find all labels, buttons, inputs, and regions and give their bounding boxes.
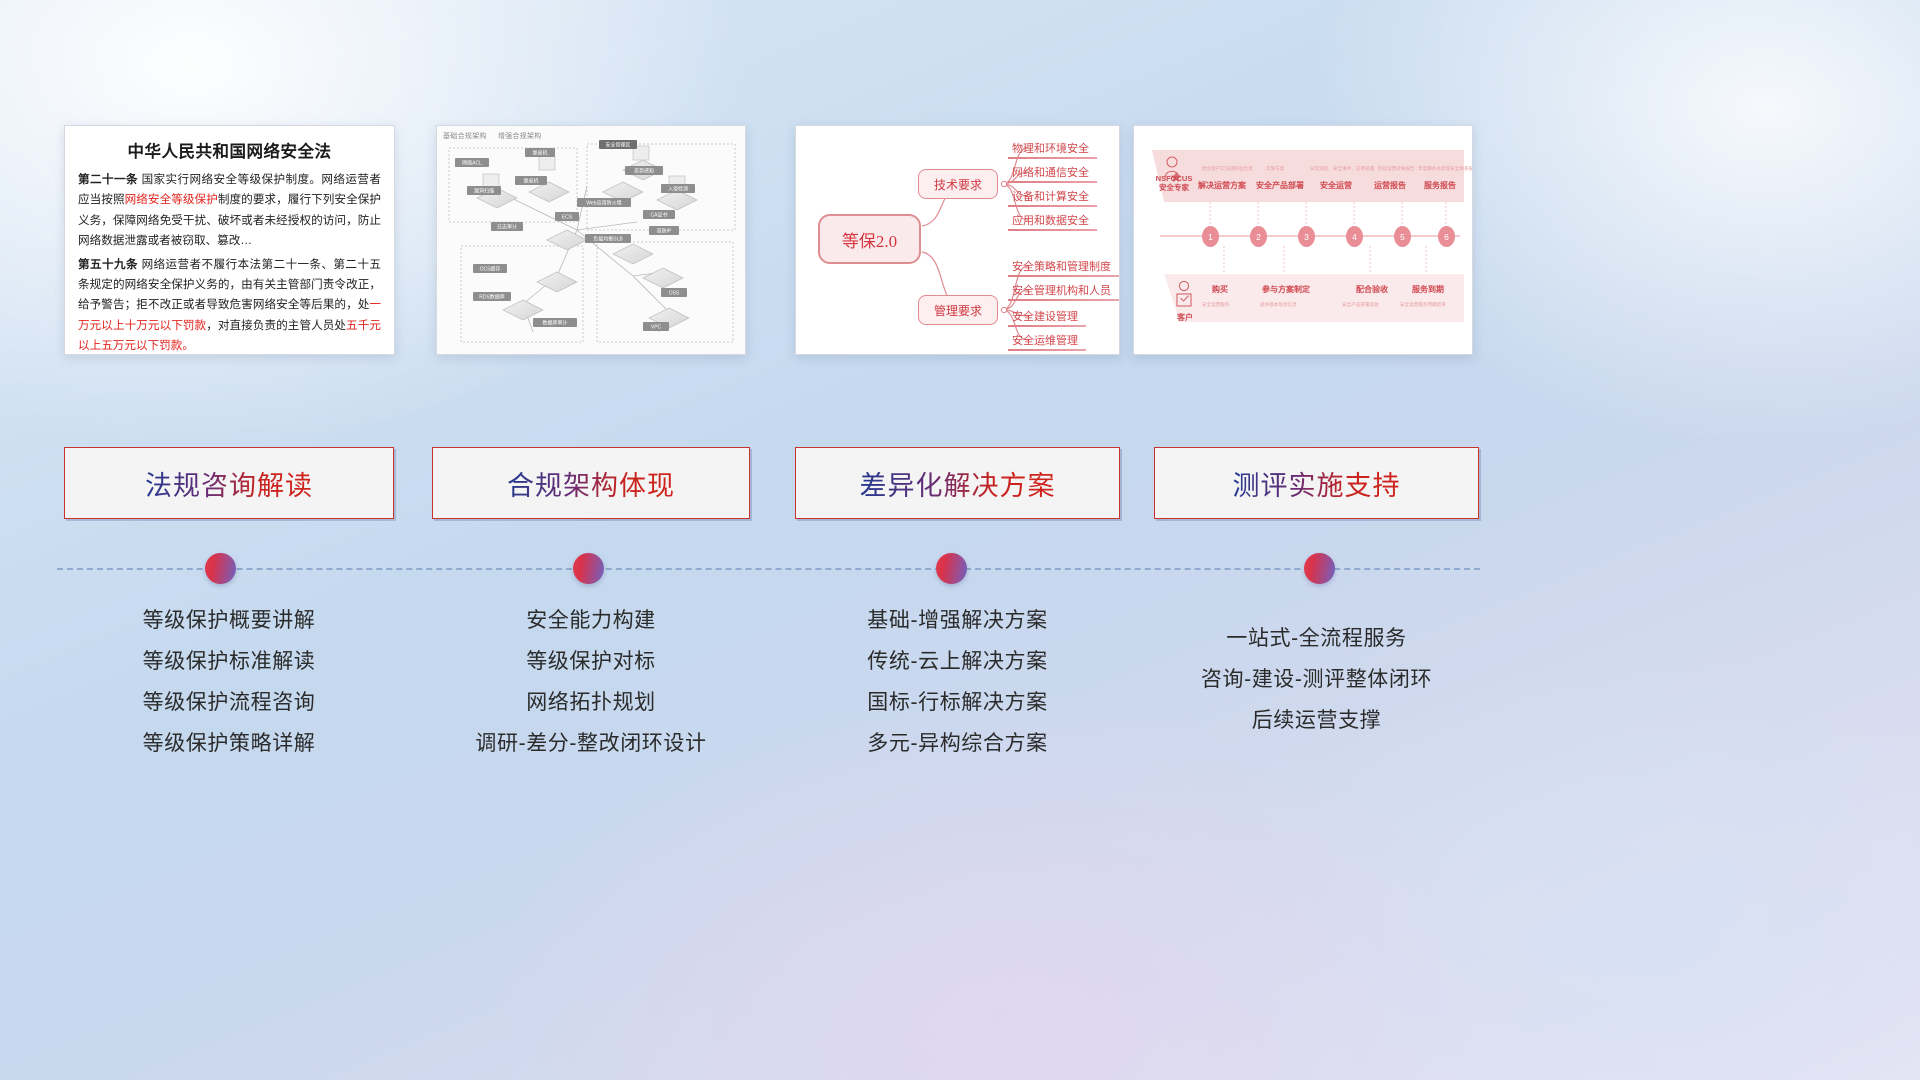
mindmap-leaf-tech-2[interactable]: 网络和通信安全 [1008,164,1093,183]
svg-text:CA证书: CA证书 [651,212,668,219]
timeline-marker-4[interactable] [1304,553,1335,584]
list-item: 等级保护概要讲解 [64,600,394,641]
mindmap-root-node[interactable]: 等保2.0 [818,214,921,264]
mindmap-leaf-tech-3[interactable]: 设备和计算安全 [1008,188,1093,207]
svg-text:数据库审计: 数据库审计 [542,320,567,327]
step-number-6[interactable]: 6 [1438,226,1455,247]
list-item: 一站式-全流程服务 [1154,618,1479,659]
pillar-headers-row: 法规咨询解读 合规架构体现 差异化解决方案 测评实施支持 [0,447,1920,519]
step-number-5[interactable]: 5 [1394,226,1411,247]
law-article-21: 第二十一条 国家实行网络安全等级保护制度。网络运营者应当按照网络安全等级保护制度… [78,170,381,252]
top-step-4-title: 运营报告 [1374,180,1406,191]
brand-subtitle: 安全专家 [1159,183,1189,192]
top-step-2-title: 安全产品部署 [1256,180,1304,191]
detail-column-1: 等级保护概要讲解 等级保护标准解读 等级保护流程咨询 等级保护策略详解 [64,600,394,764]
list-item: 国标-行标解决方案 [795,682,1120,723]
svg-text:OCS缓存: OCS缓存 [480,266,501,273]
mindmap-branch-technical[interactable]: 技术要求 [918,169,998,199]
top-step-5-desc: 年度服务总结等安全体系报告 [1418,166,1473,172]
law-text-block: 中华人民共和国网络安全法 第二十一条 国家实行网络安全等级保护制度。网络运营者应… [65,126,394,355]
list-item: 等级保护策略详解 [64,723,394,764]
reference-cards-row: 中华人民共和国网络安全法 第二十一条 国家实行网络安全等级保护制度。网络运营者应… [0,125,1920,360]
brand-label: NSFOCUS 安全专家 [1152,174,1196,193]
svg-text:OSS: OSS [669,291,680,297]
list-item: 安全能力构建 [432,600,750,641]
step-number-2[interactable]: 2 [1250,226,1267,247]
svg-text:网络ACL: 网络ACL [462,160,482,167]
timeline [0,540,1920,600]
bottom-step-3-desc: 安全产品部署验收 [1342,302,1379,308]
pillar-header-1-label: 法规咨询解读 [145,464,313,503]
top-step-1-desc: 结合客户实况调研后出具 [1202,166,1253,172]
svg-text:Web应用防火墙: Web应用防火墙 [586,200,621,207]
list-item: 网络拓扑规划 [432,682,750,723]
svg-text:RDS数据库: RDS数据库 [479,294,505,301]
top-step-3-title: 安全运营 [1320,180,1352,191]
process-diagram: NSFOCUS 安全专家 客户 结合客户实况调研后出具 解决运营方案 实施方案 … [1134,126,1472,354]
article-21-label: 第二十一条 [78,173,138,186]
list-item: 调研-差分-整改闭环设计 [432,723,750,764]
article-21-highlight: 网络安全等级保护 [125,193,218,206]
article-59-text-b: ，对直接负责的主管人员处 [206,319,346,332]
bottom-step-1-title: 购买 [1212,284,1228,295]
detail-column-3: 基础-增强解决方案 传统-云上解决方案 国标-行标解决方案 多元-异构综合方案 [795,600,1120,764]
timeline-marker-2[interactable] [573,553,604,584]
timeline-dashed-line [57,568,1480,570]
mindmap-diagram: 等保2.0 技术要求 管理要求 物理和环境安全 网络和通信安全 设备和计算安全 … [796,126,1119,354]
step-number-4[interactable]: 4 [1346,226,1363,247]
svg-text:日志审计: 日志审计 [497,224,517,231]
svg-text:漏洞扫描: 漏洞扫描 [474,188,494,195]
card-service-process[interactable]: NSFOCUS 安全专家 客户 结合客户实况调研后出具 解决运营方案 实施方案 … [1133,125,1473,355]
article-59-label: 第五十九条 [78,258,138,271]
mindmap-branch-management[interactable]: 管理要求 [918,295,998,325]
bottom-step-4-desc: 安全运营服务周期结束 [1400,302,1446,308]
timeline-marker-1[interactable] [205,553,236,584]
card-cloud-architecture[interactable]: 基础合规架构增强合规架构 [436,125,746,355]
pillar-header-3[interactable]: 差异化解决方案 [795,447,1120,519]
pillar-header-2[interactable]: 合规架构体现 [432,447,750,519]
top-step-2-desc: 实施方案 [1266,166,1284,172]
svg-text:安全管理区: 安全管理区 [605,142,630,149]
detail-column-2: 安全能力构建 等级保护对标 网络拓扑规划 调研-差分-整改闭环设计 [432,600,750,764]
mindmap-leaf-mgmt-3[interactable]: 安全建设管理 [1008,308,1082,327]
svg-text:负载均衡SLB: 负载均衡SLB [593,236,623,243]
step-number-1[interactable]: 1 [1202,226,1219,247]
card-cybersecurity-law[interactable]: 中华人民共和国网络安全法 第二十一条 国家实行网络安全等级保护制度。网络运营者应… [64,125,395,355]
detail-column-4: 一站式-全流程服务 咨询-建设-测评整体闭环 后续运营支撑 [1154,600,1479,741]
pillar-details-row: 等级保护概要讲解 等级保护标准解读 等级保护流程咨询 等级保护策略详解 安全能力… [0,600,1920,830]
mindmap-leaf-tech-4[interactable]: 应用和数据安全 [1008,212,1093,231]
pillar-header-1[interactable]: 法规咨询解读 [64,447,394,519]
card-mind-map[interactable]: 等保2.0 技术要求 管理要求 物理和环境安全 网络和通信安全 设备和计算安全 … [795,125,1120,355]
svg-text:堡垒机: 堡垒机 [523,178,538,185]
law-article-59: 第五十九条 网络运营者不履行本法第二十一条、第二十五条规定的网络安全保护义务的，… [78,255,381,355]
top-step-3-desc: 日常巡检、安全事件、应用处置 [1310,166,1374,172]
mindmap-leaf-tech-1[interactable]: 物理和环境安全 [1008,140,1093,159]
brand-name: NSFOCUS [1156,174,1193,183]
list-item: 多元-异构综合方案 [795,723,1120,764]
customer-label: 客户 [1170,312,1200,323]
svg-text:VPC: VPC [651,325,662,331]
mindmap-leaf-mgmt-1[interactable]: 安全策略和管理制度 [1008,258,1115,277]
pillar-header-2-label: 合规架构体现 [507,464,675,503]
svg-text:高防IP: 高防IP [657,228,672,235]
list-item: 咨询-建设-测评整体闭环 [1154,659,1479,700]
law-title: 中华人民共和国网络安全法 [78,138,381,162]
svg-text:堡垒机: 堡垒机 [532,150,547,157]
svg-text:态势感知: 态势感知 [634,168,654,175]
bottom-step-3-title: 配合验收 [1356,284,1388,295]
svg-text:入侵检测: 入侵检测 [668,186,688,193]
pillar-header-3-label: 差异化解决方案 [860,464,1056,503]
mindmap-leaf-mgmt-4[interactable]: 安全运维管理 [1008,332,1082,351]
architecture-svg: 网络ACL 堡垒机 安全管理区 漏洞扫描 态势感知 入侵检测 堡垒机 Web应用… [437,126,746,355]
list-item: 传统-云上解决方案 [795,641,1120,682]
slide-canvas: 中华人民共和国网络安全法 第二十一条 国家实行网络安全等级保护制度。网络运营者应… [0,0,1920,1080]
list-item: 基础-增强解决方案 [795,600,1120,641]
list-item: 后续运营支撑 [1154,700,1479,741]
bottom-step-2-desc: 提供基本现状信息 [1260,302,1297,308]
svg-text:ECS: ECS [562,215,573,221]
list-item: 等级保护标准解读 [64,641,394,682]
bottom-step-2-title: 参与方案制定 [1262,284,1310,295]
step-number-3[interactable]: 3 [1298,226,1315,247]
timeline-marker-3[interactable] [936,553,967,584]
pillar-header-4[interactable]: 测评实施支持 [1154,447,1479,519]
mindmap-leaf-mgmt-2[interactable]: 安全管理机构和人员 [1008,282,1115,301]
top-step-1-title: 解决运营方案 [1198,180,1246,191]
list-item: 等级保护流程咨询 [64,682,394,723]
bottom-step-1-desc: 安全运营服务 [1202,302,1230,308]
list-item: 等级保护对标 [432,641,750,682]
pillar-header-4-label: 测评实施支持 [1233,464,1401,503]
top-step-4-desc: 阶段运营效果报告 [1378,166,1415,172]
architecture-diagram: 基础合规架构增强合规架构 [437,126,745,354]
top-step-5-title: 服务报告 [1424,180,1456,191]
bottom-step-4-title: 服务到期 [1412,284,1444,295]
